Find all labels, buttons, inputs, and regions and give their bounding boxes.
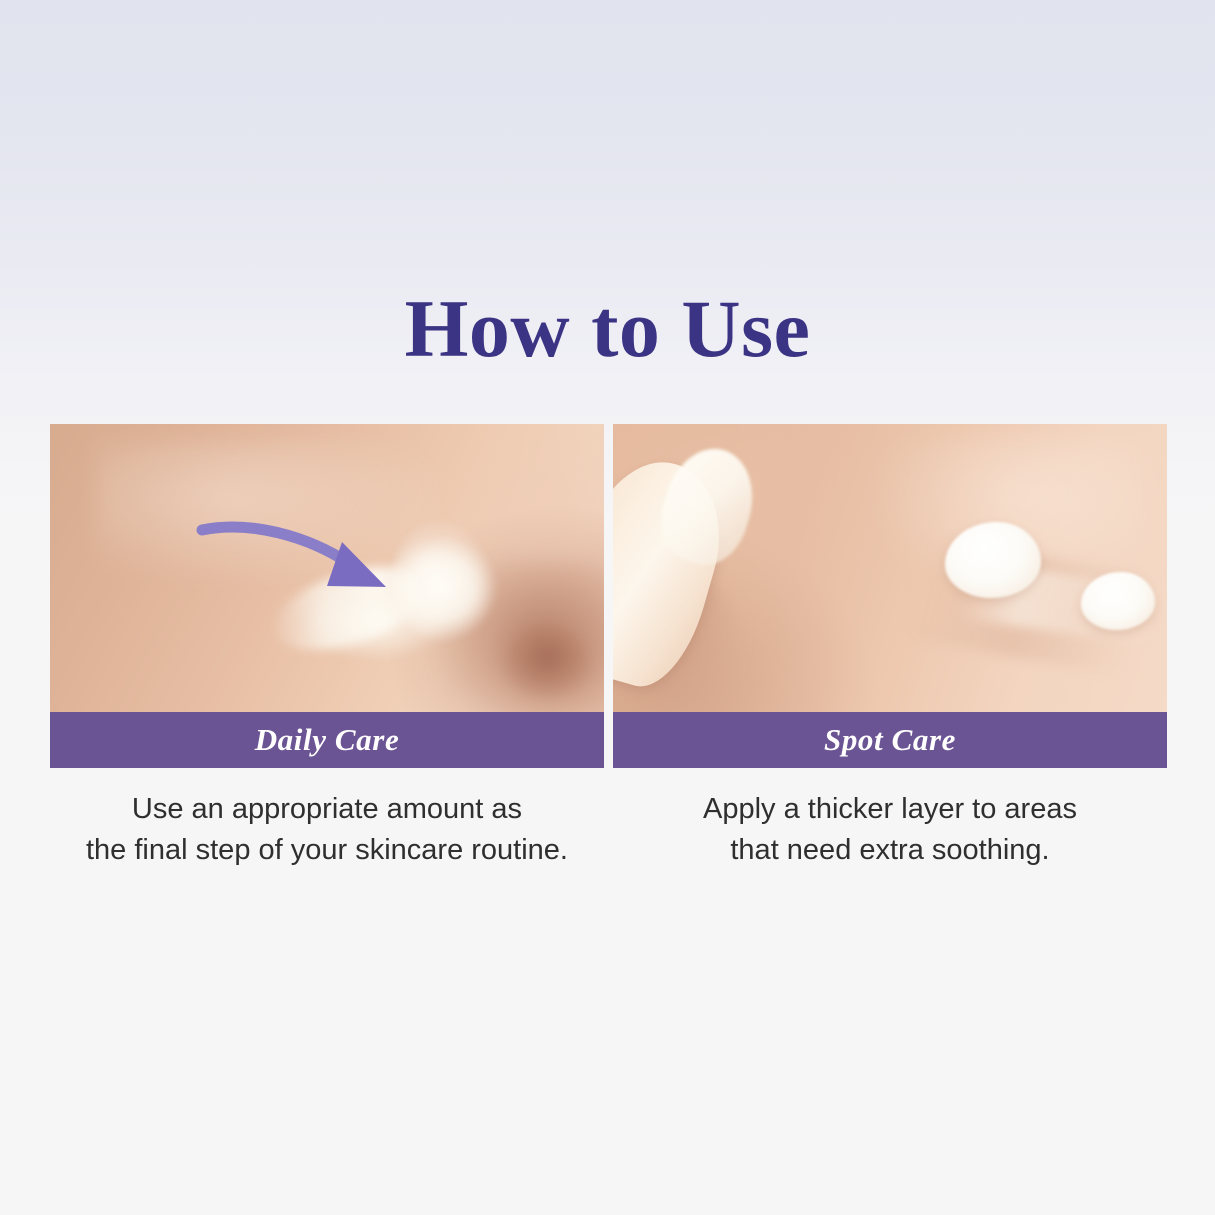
panel-spot-care[interactable]: Spot Care — [613, 424, 1167, 768]
daily-care-photo — [50, 424, 604, 712]
panels-row: Daily Care Spot Care — [50, 424, 1167, 768]
daily-care-caption: Use an appropriate amount as the final s… — [50, 789, 604, 871]
daily-care-label: Daily Care — [255, 722, 400, 758]
spot-care-label: Spot Care — [824, 722, 956, 758]
curved-arrow-icon — [50, 424, 604, 712]
page-title: How to Use — [0, 288, 1215, 370]
caption-line: that need extra soothing. — [613, 830, 1167, 871]
cream-dollop-icon — [1081, 572, 1155, 630]
infographic-canvas: How to Use Daily Care — [0, 0, 1215, 1215]
panel-daily-care[interactable]: Daily Care — [50, 424, 604, 768]
spot-care-caption: Apply a thicker layer to areas that need… — [613, 789, 1167, 871]
cream-dollop-icon — [945, 522, 1041, 598]
caption-line: Use an appropriate amount as — [50, 789, 604, 830]
daily-care-label-bar: Daily Care — [50, 712, 604, 768]
spot-care-photo — [613, 424, 1167, 712]
captions-row: Use an appropriate amount as the final s… — [50, 789, 1167, 871]
caption-line: Apply a thicker layer to areas — [613, 789, 1167, 830]
spot-care-label-bar: Spot Care — [613, 712, 1167, 768]
caption-line: the final step of your skincare routine. — [50, 830, 604, 871]
